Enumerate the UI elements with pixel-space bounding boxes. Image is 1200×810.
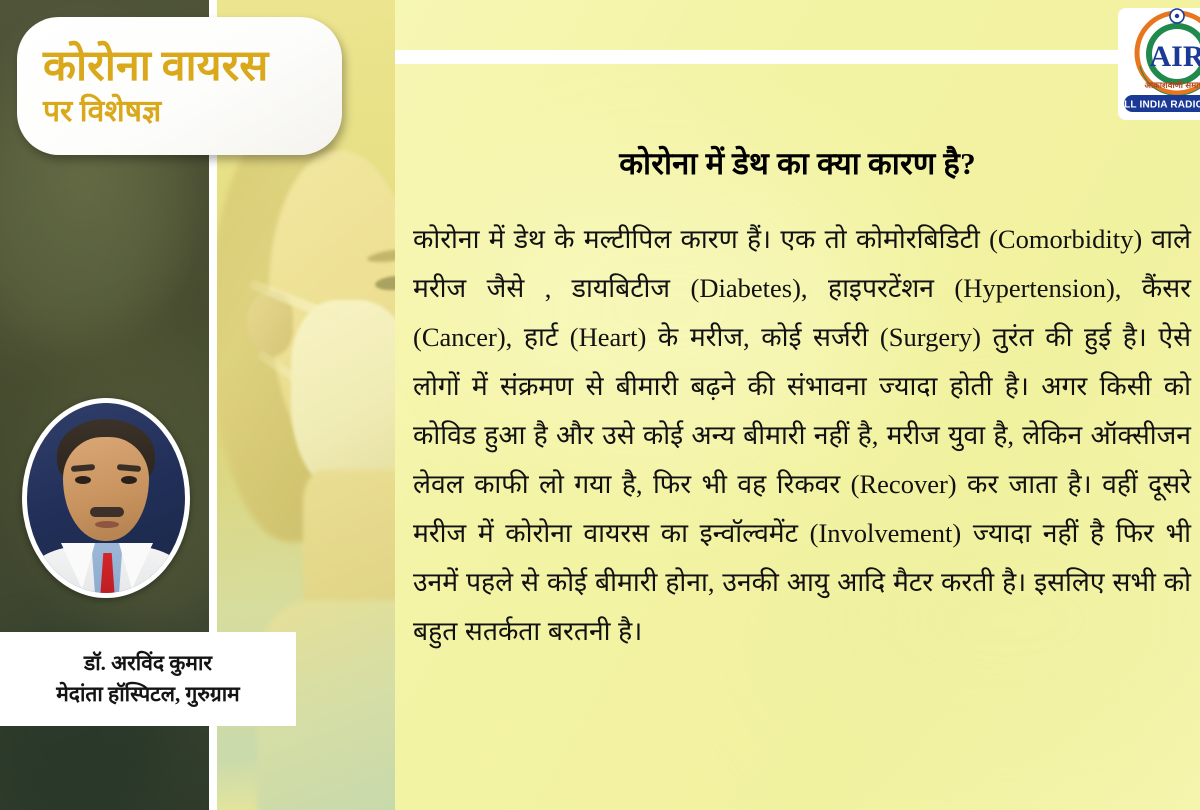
page-title: कोरोना में डेथ का क्या कारण है? <box>395 142 1200 184</box>
svg-text:AIR: AIR <box>1149 40 1200 73</box>
avatar-eye-right <box>121 476 137 484</box>
news-graphic-card: AIR आकाशवाणी समाचार ALL INDIA RADIO NEWS… <box>0 0 1200 810</box>
speaker-avatar <box>22 398 190 598</box>
body-paragraph: कोरोना में डेथ के मल्टीपिल कारण हैं। एक … <box>413 215 1191 656</box>
badge-title-line1: कोरोना वायरस <box>43 41 342 93</box>
avatar-eye-left <box>75 476 91 484</box>
air-logo: AIR आकाशवाणी समाचार ALL INDIA RADIO NEWS <box>1118 8 1200 120</box>
svg-text:ALL INDIA RADIO NEWS: ALL INDIA RADIO NEWS <box>1118 100 1200 111</box>
speaker-nameplate: डॉ. अरविंद कुमार मेदांता हॉस्पिटल, गुरुग… <box>0 632 296 726</box>
speaker-name: डॉ. अरविंद कुमार <box>84 648 212 679</box>
avatar-photo <box>27 403 185 593</box>
content-panel: AIR आकाशवाणी समाचार ALL INDIA RADIO NEWS… <box>395 0 1200 810</box>
title-badge: कोरोना वायरस पर विशेषज्ञ <box>17 17 342 155</box>
avatar-moustache <box>90 507 124 517</box>
svg-text:आकाशवाणी समाचार: आकाशवाणी समाचार <box>1145 80 1200 90</box>
badge-title-line2: पर विशेषज्ञ <box>43 93 342 131</box>
white-horizontal-band <box>395 50 1200 64</box>
avatar-mouth <box>95 521 119 528</box>
speaker-affiliation: मेदांता हॉस्पिटल, गुरुग्राम <box>56 679 239 710</box>
